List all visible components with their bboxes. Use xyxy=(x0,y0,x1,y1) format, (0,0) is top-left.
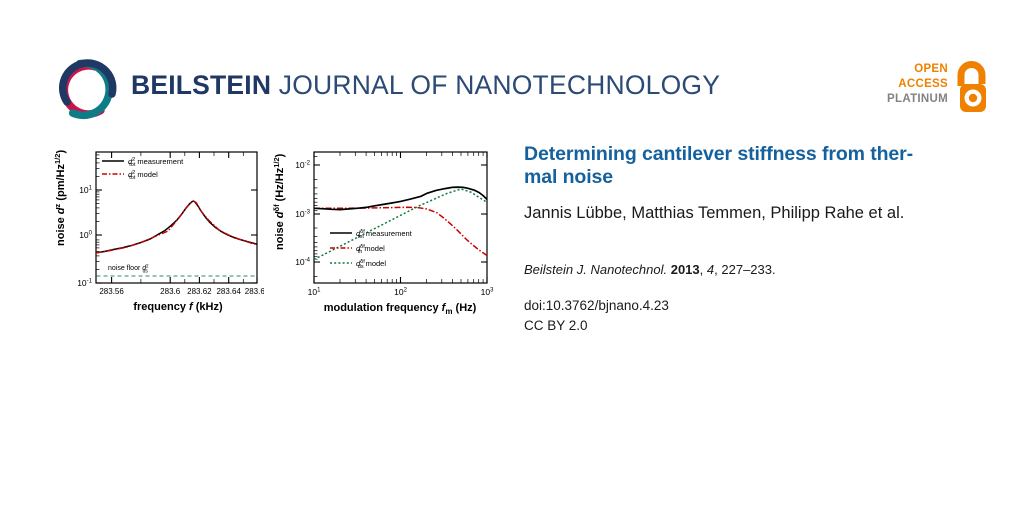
citation-comma-2: , xyxy=(714,262,718,277)
open-access-line-access: ACCESS xyxy=(887,77,948,92)
left-xtick-3: 283.64 xyxy=(216,287,241,296)
left-series-measurement xyxy=(96,201,257,253)
wordmark-journal-of-nanotechnology: JOURNAL OF NANOTECHNOLOGY xyxy=(271,70,720,100)
article-license: CC BY 2.0 xyxy=(524,316,980,336)
right-series-ds-model xyxy=(314,189,487,260)
left-chart-legend: d2totmeasurement d2totmodel xyxy=(102,157,184,181)
left-series-model xyxy=(96,201,257,253)
right-series-measurement xyxy=(314,187,487,210)
right-xtick-1e3: 103 xyxy=(481,287,494,297)
left-ytick-1e1: 101 xyxy=(79,185,92,195)
left-ytick-1e-1: 10-1 xyxy=(77,278,92,288)
beilstein-logo-mark xyxy=(54,56,122,124)
open-lock-icon xyxy=(952,60,994,116)
left-xtick-0: 283.56 xyxy=(99,287,124,296)
right-ytick-1e-3: 10-3 xyxy=(295,209,310,219)
figure-area: noise dz (pm/Hz1/2) 10-1 100 101 xyxy=(0,132,512,327)
left-chart-ylabel: noise dz (pm/Hz1/2) xyxy=(53,150,67,246)
citation-journal: Beilstein J. Nanotechnol. xyxy=(524,262,667,277)
article-authors: Jannis Lübbe, Matthias Temmen, Philipp R… xyxy=(524,204,980,224)
right-ytick-1e-2: 10-2 xyxy=(295,160,310,170)
legend-label-th-model: dδfthmodel xyxy=(356,244,385,255)
journal-wordmark: BEILSTEIN JOURNAL OF NANOTECHNOLOGY xyxy=(131,70,720,101)
legend-label-ds-model: dδfdsmodel xyxy=(356,259,386,270)
article-citation: Beilstein J. Nanotechnol. 2013, 4, 227–2… xyxy=(524,262,980,279)
legend-label-measurement: d2totmeasurement xyxy=(128,157,184,168)
right-chart-ylabel: noise dδf (Hz/Hz1/2) xyxy=(272,153,286,250)
left-plot-frame xyxy=(96,152,257,283)
article-title-line-1: Determining cantilever stiffness from th… xyxy=(524,143,913,165)
page-header: BEILSTEIN JOURNAL OF NANOTECHNOLOGY OPEN… xyxy=(0,0,1024,132)
left-noise-floor-annotation: noise floor dzds xyxy=(108,264,149,275)
chart-frequency-noise-spectrum: noise dδf (Hz/Hz1/2) 10-2 10-3 10-4 xyxy=(272,138,500,320)
chart-thermal-noise-spectrum: noise dz (pm/Hz1/2) 10-1 100 101 xyxy=(52,138,264,320)
citation-year: 2013 xyxy=(671,262,700,277)
right-chart-legend: dδftotmeasurement dδfthmodel dδfdsmodel xyxy=(330,229,413,270)
left-xtick-4: 283.66 xyxy=(245,287,264,296)
left-ytick-1e0: 100 xyxy=(79,230,92,240)
left-xtick-2: 283.62 xyxy=(187,287,212,296)
open-access-badge: OPEN ACCESS PLATINUM xyxy=(894,58,994,120)
wordmark-beilstein: BEILSTEIN xyxy=(131,70,271,100)
citation-comma-1: , xyxy=(700,262,704,277)
article-title-line-2: mal noise xyxy=(524,166,613,188)
legend-label-model: d2totmodel xyxy=(128,170,158,181)
left-xtick-1: 283.6 xyxy=(160,287,181,296)
right-chart-xlabel: modulation frequency fm (Hz) xyxy=(324,302,477,316)
left-chart-xlabel: frequency f (kHz) xyxy=(133,301,223,313)
article-doi[interactable]: doi:10.3762/bjnano.4.23 xyxy=(524,296,980,316)
right-ytick-1e-4: 10-4 xyxy=(295,257,310,267)
open-access-line-open: OPEN xyxy=(887,62,948,77)
right-xtick-1e2: 102 xyxy=(394,287,407,297)
open-access-line-platinum: PLATINUM xyxy=(887,92,948,107)
citation-pages: 227–233. xyxy=(721,262,775,277)
open-access-text: OPEN ACCESS PLATINUM xyxy=(887,62,948,108)
legend-label-tot-measurement: dδftotmeasurement xyxy=(356,229,413,240)
article-info: Determining cantilever stiffness from th… xyxy=(524,143,980,336)
right-xtick-1e1: 101 xyxy=(308,287,321,297)
article-title[interactable]: Determining cantilever stiffness from th… xyxy=(524,143,980,189)
